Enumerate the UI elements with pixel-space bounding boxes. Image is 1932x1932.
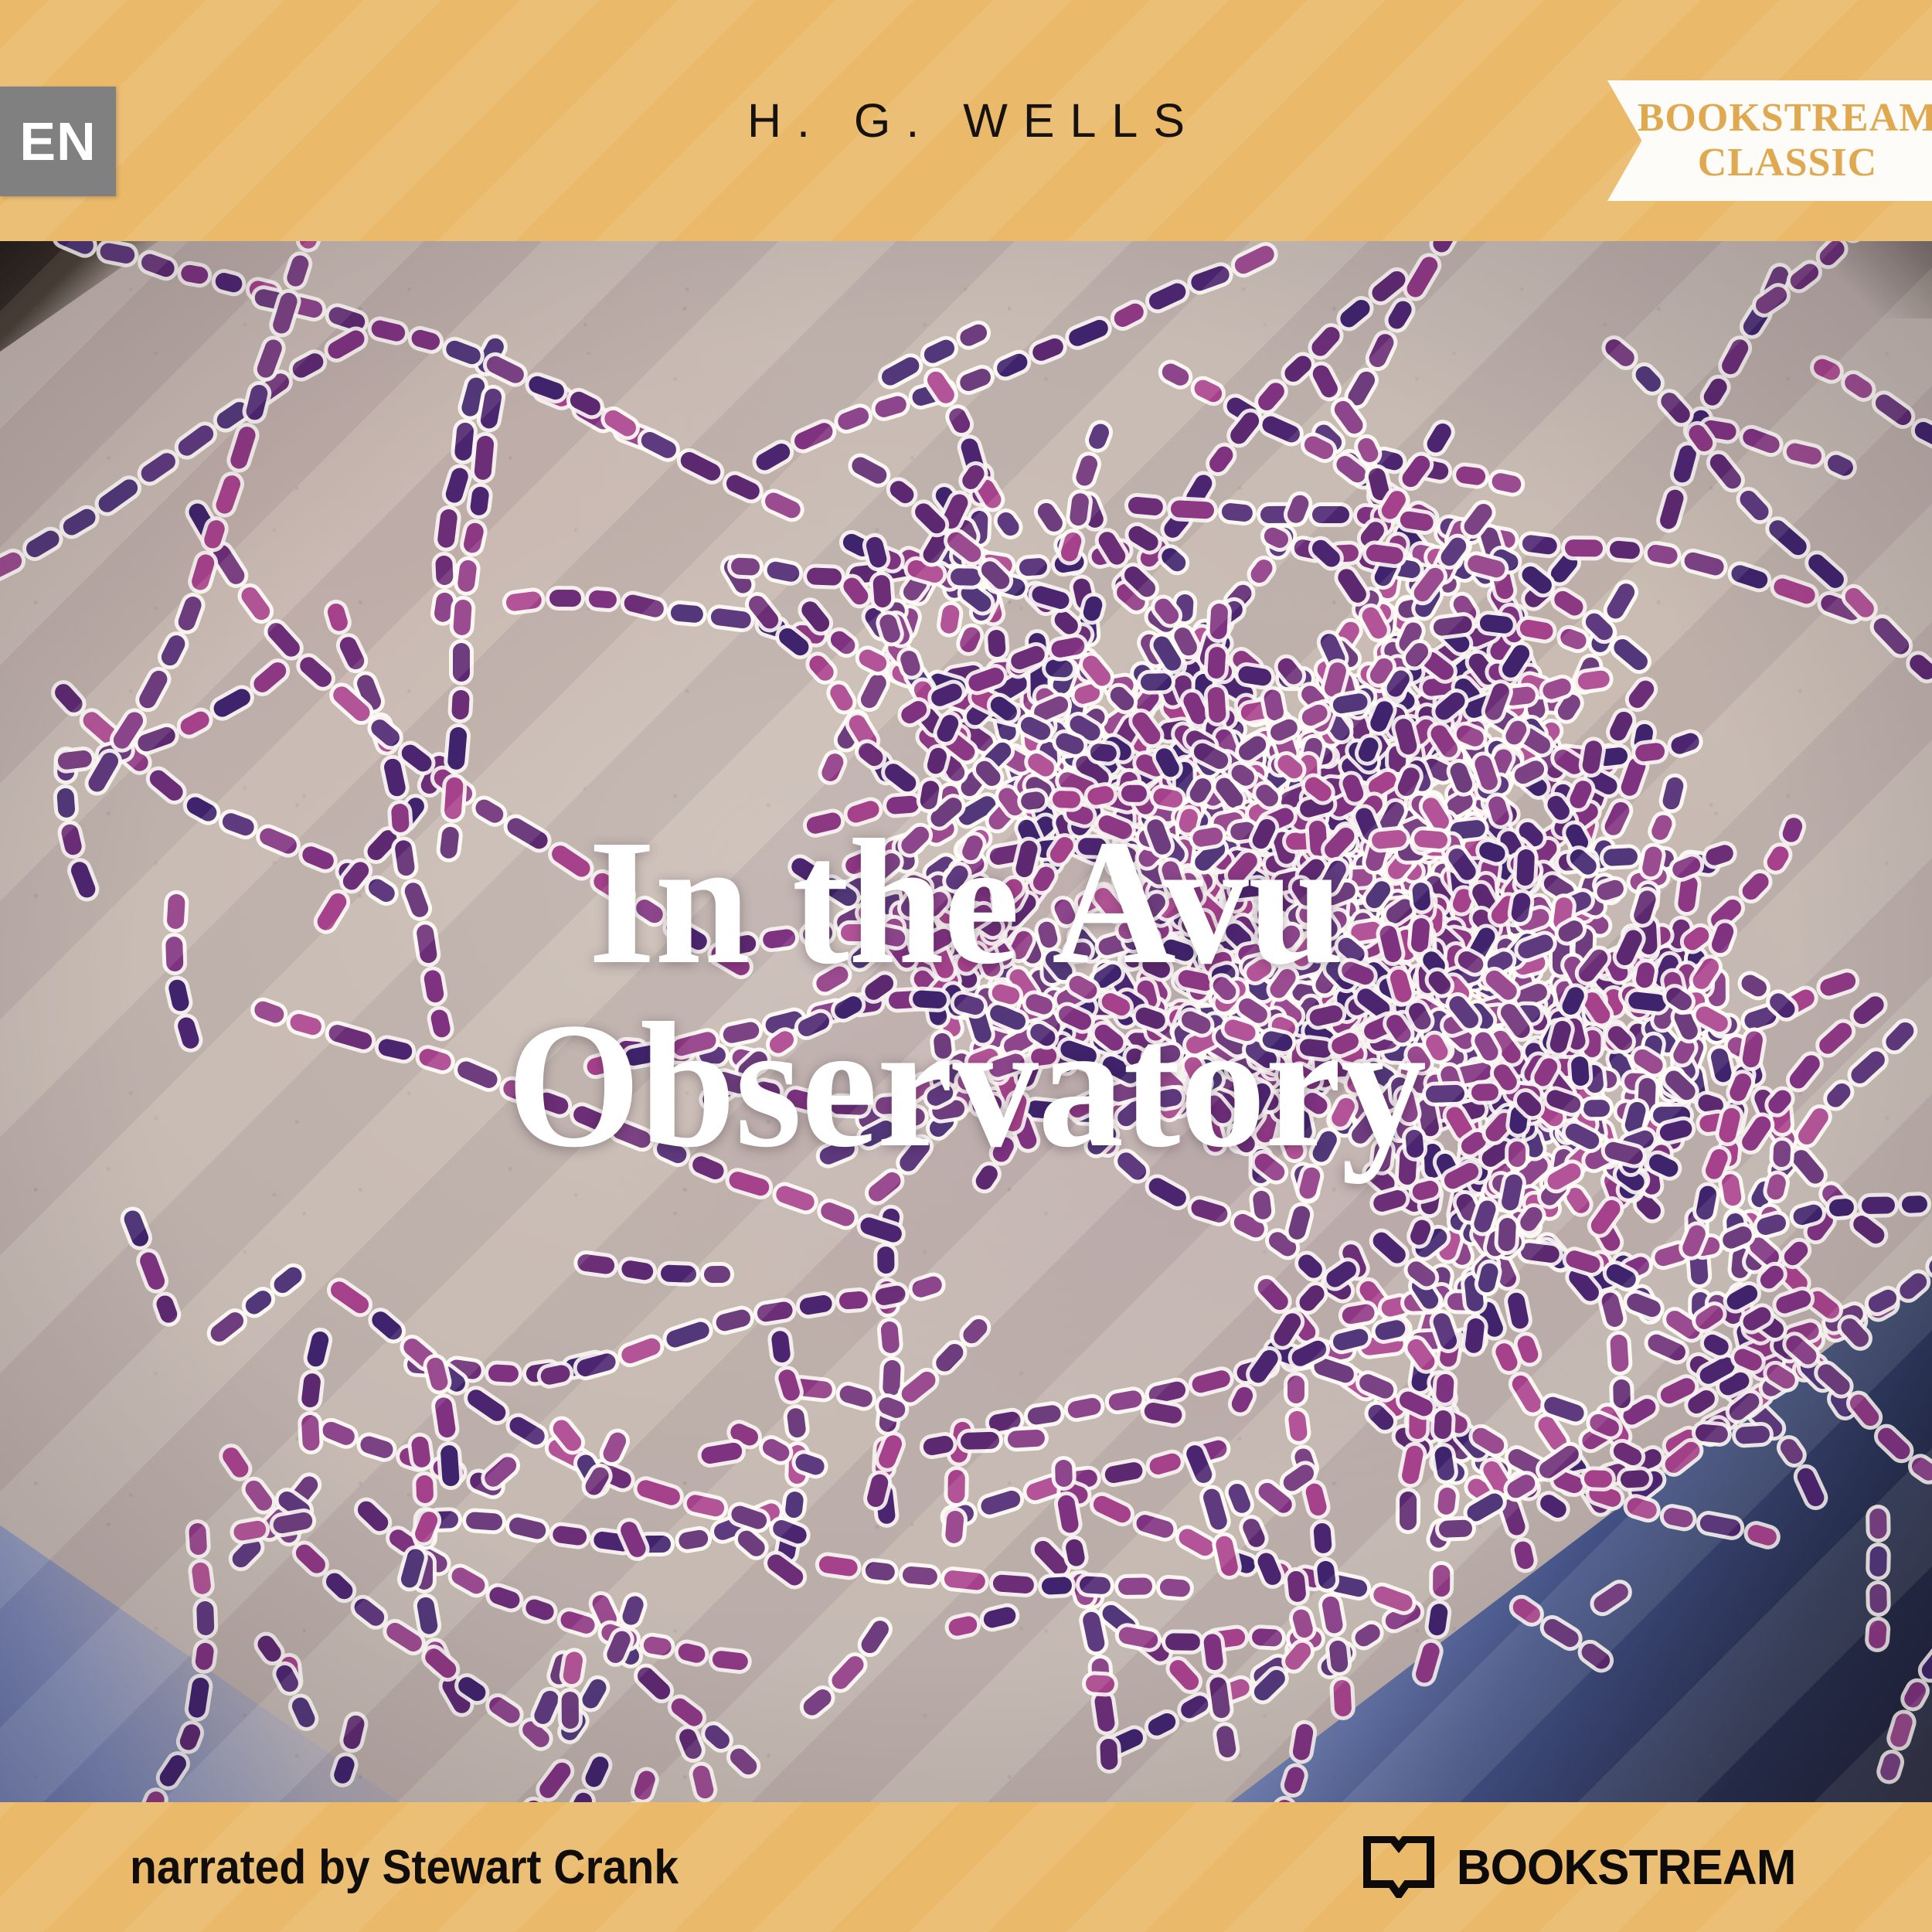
bacteria-rod (453, 643, 470, 682)
bacteria-rod (211, 685, 253, 719)
bacteria-rod (1118, 1578, 1152, 1596)
bacteria-rod (849, 454, 890, 487)
bacteria-rod (1551, 588, 1587, 619)
bacteria-rod (828, 1653, 867, 1693)
bacteria-rod (207, 1309, 247, 1345)
bacteria-rod (244, 383, 269, 421)
bacteria-rod (1600, 1291, 1624, 1328)
bacteria-rod (1007, 1429, 1045, 1448)
bacteria-rod (1287, 1204, 1312, 1241)
bacteria-rod (1771, 577, 1818, 607)
bacteria-rod (957, 624, 982, 654)
bacteria-rod (470, 486, 491, 517)
bacteria-rod (1701, 376, 1730, 409)
bacteria-rod (1721, 1172, 1743, 1206)
bacteria-rod (1662, 1506, 1695, 1529)
bacteria-rod (444, 338, 483, 366)
bacteria-rod (1795, 1105, 1832, 1148)
bacteria-rod (285, 253, 311, 288)
bacteria-rod (664, 917, 710, 954)
bacteria-rod (875, 1095, 913, 1114)
bacteria-rod (620, 1594, 645, 1628)
bacteria-rod (678, 449, 723, 484)
bacteria-rod (1695, 1185, 1718, 1221)
bacteria-rod (232, 1519, 267, 1542)
bacteria-rod (700, 1441, 743, 1464)
bacteria-rod (1371, 1584, 1414, 1614)
bacteria-rod (1704, 842, 1736, 867)
bacteria-rod (1493, 1340, 1520, 1373)
bacteria-rod (536, 1759, 574, 1801)
bacteria-rod (177, 1722, 202, 1753)
bacteria-rod (1848, 1048, 1888, 1087)
bacteria-rod (1367, 332, 1397, 370)
bacteria-rod (1128, 496, 1164, 516)
bacteria-rod (417, 1046, 454, 1072)
bacteria-rod (402, 880, 430, 920)
bacteria-rod (1610, 1334, 1629, 1372)
bacteria-rod (1777, 1435, 1805, 1466)
bacteria-rod (444, 777, 464, 820)
bacteria-rod (1862, 1196, 1895, 1214)
bacteria-rod (701, 1722, 733, 1753)
bacteria-rod (1781, 1238, 1811, 1269)
bacteria-rod (1026, 1100, 1066, 1121)
bacteria-rod (712, 1650, 749, 1671)
bacteria-rod (727, 1745, 761, 1778)
bacteria-rod (1117, 1626, 1159, 1650)
bacteria-rod (902, 1566, 937, 1586)
bacteria-rod (1610, 540, 1641, 560)
bacteria-rod (326, 1022, 373, 1051)
bacteria-rod (939, 604, 960, 635)
bacteria-rod (1784, 442, 1822, 467)
bacteria-rod (1145, 1710, 1179, 1739)
bacteria-rod (430, 1008, 452, 1039)
bacteria-rod (1515, 1334, 1540, 1366)
bacteria-rod (806, 652, 837, 685)
bacteria-rod (753, 1080, 781, 1102)
bacteria-rod (449, 1564, 488, 1597)
bacteria-rod (289, 1695, 318, 1730)
bacteria-rod (1178, 1692, 1211, 1721)
bacteria-rod (600, 1430, 628, 1465)
bacteria-rod (549, 842, 594, 879)
bacteria-rod (1161, 937, 1196, 963)
bacteria-rod (1735, 1426, 1770, 1445)
bacteria-rod (1190, 1369, 1232, 1395)
bacteria-rod (1918, 1641, 1932, 1682)
bacteria-rod (1085, 1674, 1115, 1692)
bacteria-rod (1500, 1497, 1528, 1537)
bacteria-rod (325, 601, 349, 633)
bacteria-rod (1240, 1516, 1267, 1550)
bacteria-rod (1030, 336, 1066, 364)
bacteria-rod (876, 1433, 904, 1471)
bacteria-rod (368, 1308, 405, 1342)
bacteria-rod (1141, 673, 1172, 691)
bacteria-rod (1221, 502, 1253, 522)
bacteria-rod (1079, 1576, 1111, 1594)
bacteria-rod (1189, 264, 1231, 293)
bacteria-rod (921, 337, 957, 366)
bacteria-rod (328, 1278, 372, 1317)
bacteria-rod (454, 422, 475, 461)
bacteria-rod (383, 757, 407, 798)
bacteria-rod (508, 1515, 547, 1540)
bacteria-rod (559, 1609, 597, 1635)
bacteria-rod (1176, 1526, 1217, 1560)
bacteria-rod (53, 241, 96, 257)
bacteria-rod (196, 1601, 215, 1636)
bacteria-rod (1206, 443, 1236, 475)
bacteria-rod (1413, 830, 1448, 850)
bacteria-rod (858, 1617, 892, 1657)
bacteria-rod (1310, 1128, 1340, 1165)
bacteria-rod (1789, 1147, 1827, 1188)
bacteria-rod (971, 1094, 1003, 1114)
bacteria-rod (1818, 970, 1858, 998)
imprint-line-2: CLASSIC (1698, 143, 1877, 183)
bacteria-rod (1209, 604, 1228, 640)
bacteria-rod (848, 938, 883, 971)
header-band: EN H. G. WELLS BOOKSTREAM CLASSIC (0, 0, 1932, 241)
bacteria-rod (654, 1138, 689, 1166)
bacteria-rod (1370, 829, 1406, 849)
bacteria-rod (685, 1493, 726, 1518)
bacteria-rod (56, 787, 76, 818)
bacteria-rod (1625, 677, 1658, 712)
bacteria-rod (856, 647, 889, 675)
bacteria-rod (1345, 369, 1378, 409)
bacteria-rod (156, 1752, 189, 1790)
bacteria-rod (434, 1396, 456, 1438)
language-badge: EN (0, 87, 116, 196)
bacteria-rod (788, 855, 822, 885)
bacteria-rod (1774, 1288, 1812, 1315)
bacteria-rod (1902, 1196, 1928, 1213)
bacteria-rod (562, 1692, 579, 1729)
bacteria-rod (1111, 301, 1147, 330)
bacteria-rod (1166, 1657, 1202, 1694)
bacteria-rod (1413, 1641, 1441, 1685)
bacteria-rod (756, 1301, 794, 1323)
bacteria-layer (0, 241, 1932, 1802)
bacteria-rod (325, 327, 368, 361)
bacteria-rod (1696, 1092, 1726, 1116)
bacteria-rod (1031, 1537, 1071, 1578)
bacteria-rod (798, 1294, 833, 1317)
bacteria-rod (191, 1562, 212, 1595)
bacteria-rod (1729, 563, 1769, 590)
bacteria-rod (359, 1434, 395, 1460)
bacteria-rod (886, 795, 920, 815)
bacteria-rod (1510, 1595, 1544, 1625)
bacteria-rod (1026, 1404, 1062, 1426)
bacteria-rod (1889, 1712, 1915, 1749)
bacteria-rod (1341, 1303, 1376, 1325)
bacteria-rod (1872, 392, 1914, 429)
bacteria-rod (1464, 1318, 1485, 1354)
bacteria-rod (1385, 298, 1414, 332)
bacteria-rod (69, 859, 98, 900)
bacteria-rod (254, 1632, 284, 1665)
bacteria-rod (1455, 465, 1486, 486)
bacteria-rod (819, 750, 846, 784)
bacteria-rod (1094, 1692, 1116, 1733)
bacteria-rod (621, 1260, 655, 1281)
bacteria-rod (524, 1597, 556, 1623)
bacteria-rod (1869, 1546, 1887, 1577)
bacteria-rod (1498, 1218, 1516, 1252)
bacteria-rod (762, 490, 803, 521)
bacteria-rod (486, 1694, 523, 1726)
bacteria-rod (1584, 1470, 1613, 1488)
bacteria-rod (229, 424, 258, 471)
bacteria-rod (298, 241, 328, 251)
bacteria-rod (1226, 1481, 1253, 1515)
bacteria-rod (1147, 1380, 1187, 1405)
bacteria-rod (1041, 1577, 1072, 1595)
bacteria-rod (1434, 1410, 1453, 1440)
open-book-icon (1363, 1836, 1434, 1898)
bacteria-rod (992, 1574, 1035, 1594)
bacteria-rod (642, 1636, 672, 1658)
bacteria-rod (1053, 791, 1080, 808)
bacteria-rod (1805, 551, 1848, 592)
bacteria-rod (1677, 876, 1699, 913)
bacteria-rod (879, 354, 922, 388)
bacteria-rod (1746, 1523, 1779, 1548)
bacteria-rod (1337, 296, 1373, 330)
bacteria-rod (1189, 1197, 1230, 1224)
bacteria-rod (297, 653, 335, 690)
bacteria-rod (410, 328, 442, 352)
bacteria-rod (1312, 506, 1349, 523)
bacteria-rod (1766, 517, 1811, 559)
bacteria-rod (1146, 1175, 1189, 1209)
bacteria-rod (184, 794, 220, 824)
bacteria-rod (435, 556, 454, 586)
bacteria-rod (946, 405, 972, 435)
bacteria-rod (1316, 1560, 1336, 1590)
bacteria-rod (704, 1266, 730, 1283)
bacteria-rod (1602, 799, 1632, 838)
bacteria-rod (1281, 352, 1315, 386)
bacteria-rod (1563, 1184, 1593, 1216)
bacteria-rod (178, 709, 213, 738)
bacteria-rod (1208, 686, 1227, 723)
bacteria-rod (213, 270, 243, 294)
bacteria-rod (1308, 323, 1343, 359)
bacteria-rod (139, 251, 177, 279)
bacteria-rod (619, 1336, 662, 1366)
bacteria-rod (1842, 371, 1875, 401)
bacteria-rod (727, 1169, 772, 1198)
bacteria-rod (1824, 1080, 1854, 1111)
bacteria-rod (664, 1319, 711, 1349)
bacteria-rod (777, 1368, 802, 1403)
bacteria-rod (571, 1104, 610, 1133)
bacteria-rod (154, 1294, 179, 1326)
bacteria-rod (1121, 784, 1147, 801)
bacteria-rod (1425, 1084, 1464, 1102)
bacteria-rod (1816, 241, 1848, 269)
bacteria-rod (933, 1032, 952, 1060)
bacteria-rod (1906, 651, 1932, 683)
bacteria-rod (1427, 1603, 1449, 1637)
bacteria-rod (290, 351, 326, 381)
bacteria-rod (1282, 1765, 1306, 1796)
bacteria-rod (1160, 1578, 1192, 1597)
bacteria-rod (23, 528, 63, 560)
bacteria-rod (444, 466, 470, 505)
bacteria-rod (1662, 775, 1685, 811)
bacteria-rod (1369, 1229, 1409, 1267)
bacteria-rod (1513, 1540, 1536, 1570)
bacteria-rod (176, 1015, 202, 1051)
bacteria-rod (1310, 362, 1341, 400)
bacteria-rod (638, 429, 679, 461)
bacteria-rod (1781, 815, 1805, 845)
imprint-ribbon: BOOKSTREAM CLASSIC (1607, 80, 1932, 201)
bacteria-rod (1296, 1282, 1328, 1315)
bacteria-rod (720, 934, 758, 957)
bacteria-rod (457, 560, 478, 594)
bacteria-rod (252, 999, 286, 1026)
bacteria-rod (1701, 1332, 1732, 1358)
bacteria-rod (1509, 1141, 1526, 1167)
bacteria-rod (714, 1308, 752, 1333)
bacteria-rod (455, 1058, 501, 1090)
bacteria-rod (838, 1291, 868, 1310)
bacteria-rod (1055, 1460, 1073, 1488)
bacteria-rod (723, 472, 762, 502)
bacteria-rod (988, 1410, 1022, 1433)
bacteria-rod (1491, 471, 1523, 495)
bacteria-rod (1738, 972, 1770, 1000)
bacteria-rod (242, 1477, 275, 1514)
bacteria-rod (845, 798, 881, 825)
bacteria-rod (1536, 1492, 1569, 1522)
bacteria-rod (377, 1037, 414, 1061)
bacteria-rod (366, 876, 398, 906)
bacteria-rod (484, 353, 526, 386)
bacteria-rod (416, 923, 438, 964)
narrator-credit: narrated by Stewart Crank (130, 1802, 679, 1932)
bacteria-rod (982, 1605, 1018, 1629)
bacteria-rod (1787, 1052, 1824, 1092)
bacteria-rod (391, 804, 410, 834)
bacteria-rod (830, 1097, 869, 1115)
bacteria-rod (1192, 377, 1225, 405)
bacteria-rod (910, 1274, 944, 1300)
bacteria-rod (138, 1250, 167, 1292)
bacteria-rod (293, 1541, 329, 1577)
bacteria-rod (51, 680, 86, 716)
bacteria-rod (213, 473, 242, 516)
bacteria-rod (577, 1253, 615, 1275)
bacteria-rod (532, 1688, 561, 1726)
bacteria-rod (1632, 362, 1665, 395)
bacteria-rod (369, 318, 406, 342)
bacteria-rod (1683, 550, 1726, 577)
bacteria-rod (957, 366, 994, 394)
bacteria-rod (838, 1383, 874, 1409)
bacteria-rod (1658, 389, 1693, 426)
bacteria-rod (440, 1444, 459, 1486)
bacteria-rod (1695, 1423, 1729, 1444)
bacteria-rod (583, 1754, 611, 1790)
bacteria-rod (1100, 1739, 1118, 1770)
bacteria-rod (488, 1585, 522, 1611)
bacteria-rod (1658, 487, 1686, 530)
bacteria-rod (585, 1053, 620, 1077)
bacteria-rod (462, 522, 485, 555)
bacteria-rod (121, 1208, 151, 1249)
bacteria-rod (351, 1595, 387, 1629)
bacteria-rod (873, 394, 908, 420)
bacteria-rod (140, 1788, 168, 1802)
bacteria-rod (1304, 1481, 1328, 1517)
bacteria-rod (501, 1078, 534, 1104)
bacteria-rod (1287, 1376, 1304, 1403)
bacteria-rod (416, 1596, 439, 1635)
bacteria-rod (1565, 539, 1603, 557)
bacteria-rod (1291, 1723, 1315, 1761)
bacteria-rod (762, 928, 796, 949)
bacteria-rod (1571, 1056, 1590, 1087)
bacteria-rod (229, 1536, 264, 1571)
bacteria-rod (474, 435, 495, 480)
bacteria-rod (945, 1510, 965, 1543)
bacteria-rod (1794, 1465, 1827, 1509)
bacteria-rod (301, 1414, 320, 1451)
audiobook-cover: In the Avu Observatory EN H. G. WELLS BO… (0, 0, 1932, 1932)
bacteria-rod (1148, 1451, 1182, 1476)
bacteria-rod (1579, 1641, 1614, 1672)
bacteria-rod (1811, 356, 1842, 383)
bacteria-rod (465, 1512, 502, 1531)
bacteria-rod (668, 1696, 706, 1730)
bacteria-rod (147, 767, 187, 804)
bacteria-rod (800, 1686, 835, 1719)
bacteria-rod (1506, 1291, 1530, 1330)
bacteria-rod (320, 1420, 357, 1448)
bacteria-rod (488, 1364, 519, 1383)
bacteria-rod (158, 633, 188, 669)
bacteria-rod (1090, 1493, 1133, 1526)
bacteria-rod (1516, 849, 1535, 886)
bacteria-rod (1828, 1198, 1855, 1217)
bacteria-rod (190, 553, 216, 592)
bacteria-rod (383, 1620, 425, 1655)
bacteria-rod (425, 1355, 450, 1392)
bacteria-rod (633, 896, 666, 927)
bacteria-rod (1285, 492, 1311, 526)
brand-logo: BOOKSTREAM (1363, 1802, 1801, 1932)
bacteria-rod (464, 1386, 509, 1424)
bacteria-rod (1613, 1379, 1631, 1408)
brand-name: BOOKSTREAM (1457, 1838, 1796, 1896)
bacteria-rod (1019, 557, 1049, 577)
bacteria-rod (1620, 1470, 1650, 1488)
bacteria-rod (1882, 1019, 1917, 1054)
bacteria-rod (453, 599, 472, 636)
bacteria-rod (792, 420, 835, 452)
bacteria-rod (1719, 336, 1751, 377)
bacteria-rod (1521, 534, 1558, 556)
